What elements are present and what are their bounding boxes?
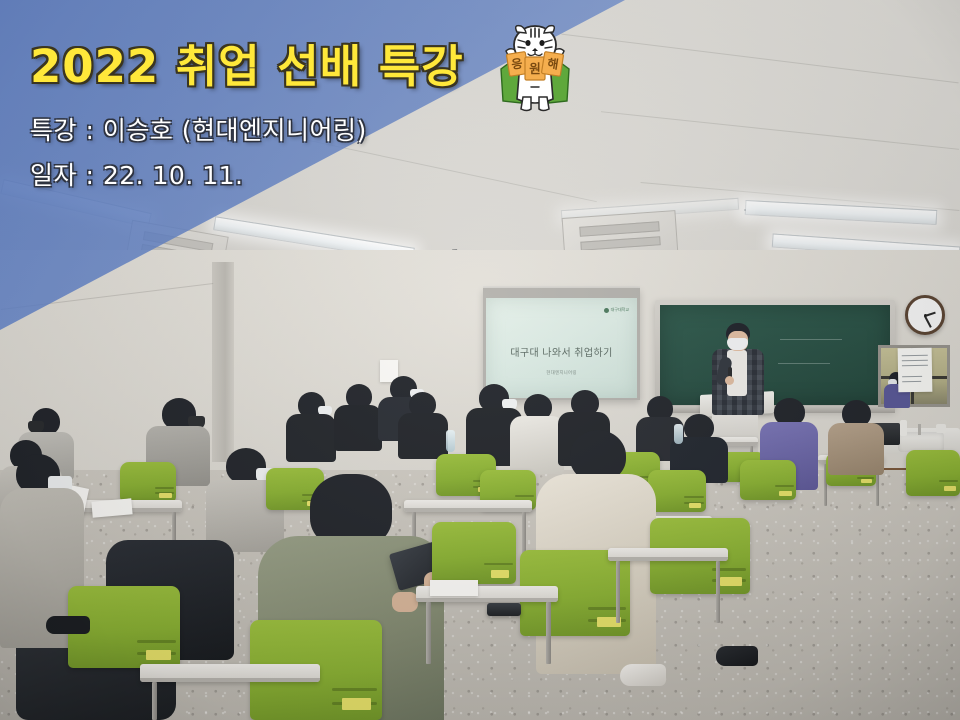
screen-title: 대구대 나와서 취업하기 [486, 344, 637, 359]
smartphone [487, 603, 521, 616]
water-bottle [674, 424, 683, 444]
ceiling-light [744, 209, 746, 211]
chair [648, 470, 706, 512]
wall-notice [898, 348, 933, 393]
date-line: 일자 : 22. 10. 11. [30, 160, 590, 191]
handout-paper [430, 580, 478, 596]
student [398, 392, 448, 456]
svg-text:해: 해 [546, 56, 559, 72]
svg-text:응: 응 [510, 55, 523, 72]
chalkboard [660, 305, 890, 405]
desk [140, 664, 320, 682]
chalkboard-frame [655, 300, 895, 410]
presenter [708, 323, 768, 415]
wall-clock [905, 295, 945, 335]
chair [906, 450, 960, 496]
white-tiger-mascot: 응 원 해 [487, 19, 583, 115]
chalk-mark [778, 363, 830, 364]
screen-logo-text: 대구대학교 [611, 307, 629, 313]
svg-text:원: 원 [529, 61, 541, 76]
chair [740, 460, 796, 500]
student [334, 384, 382, 448]
shoe [620, 664, 666, 686]
screen-subtitle: 현대엔지니어링 [486, 370, 637, 376]
soap-dispenser [900, 420, 907, 436]
screen-logo: 대구대학교 [604, 307, 629, 313]
desk [608, 548, 728, 561]
lecturer-line: 특강 : 이승호 (현대엔지니어링) [30, 115, 590, 146]
student [828, 400, 884, 470]
shoe [716, 646, 758, 666]
chair [120, 462, 176, 502]
chair [432, 522, 516, 584]
projection-screen: 대구대학교 대구대 나와서 취업하기 현대엔지니어링 [486, 298, 637, 398]
student [286, 392, 336, 458]
shoe [46, 616, 90, 634]
screenshot-canvas: 대구대학교 대구대 나와서 취업하기 현대엔지니어링 [0, 0, 960, 720]
faucet [918, 424, 921, 435]
hand [392, 592, 418, 612]
wall-column [212, 262, 234, 462]
cup [936, 424, 946, 433]
water-bottle [446, 430, 455, 452]
chalk-mark [780, 339, 842, 340]
